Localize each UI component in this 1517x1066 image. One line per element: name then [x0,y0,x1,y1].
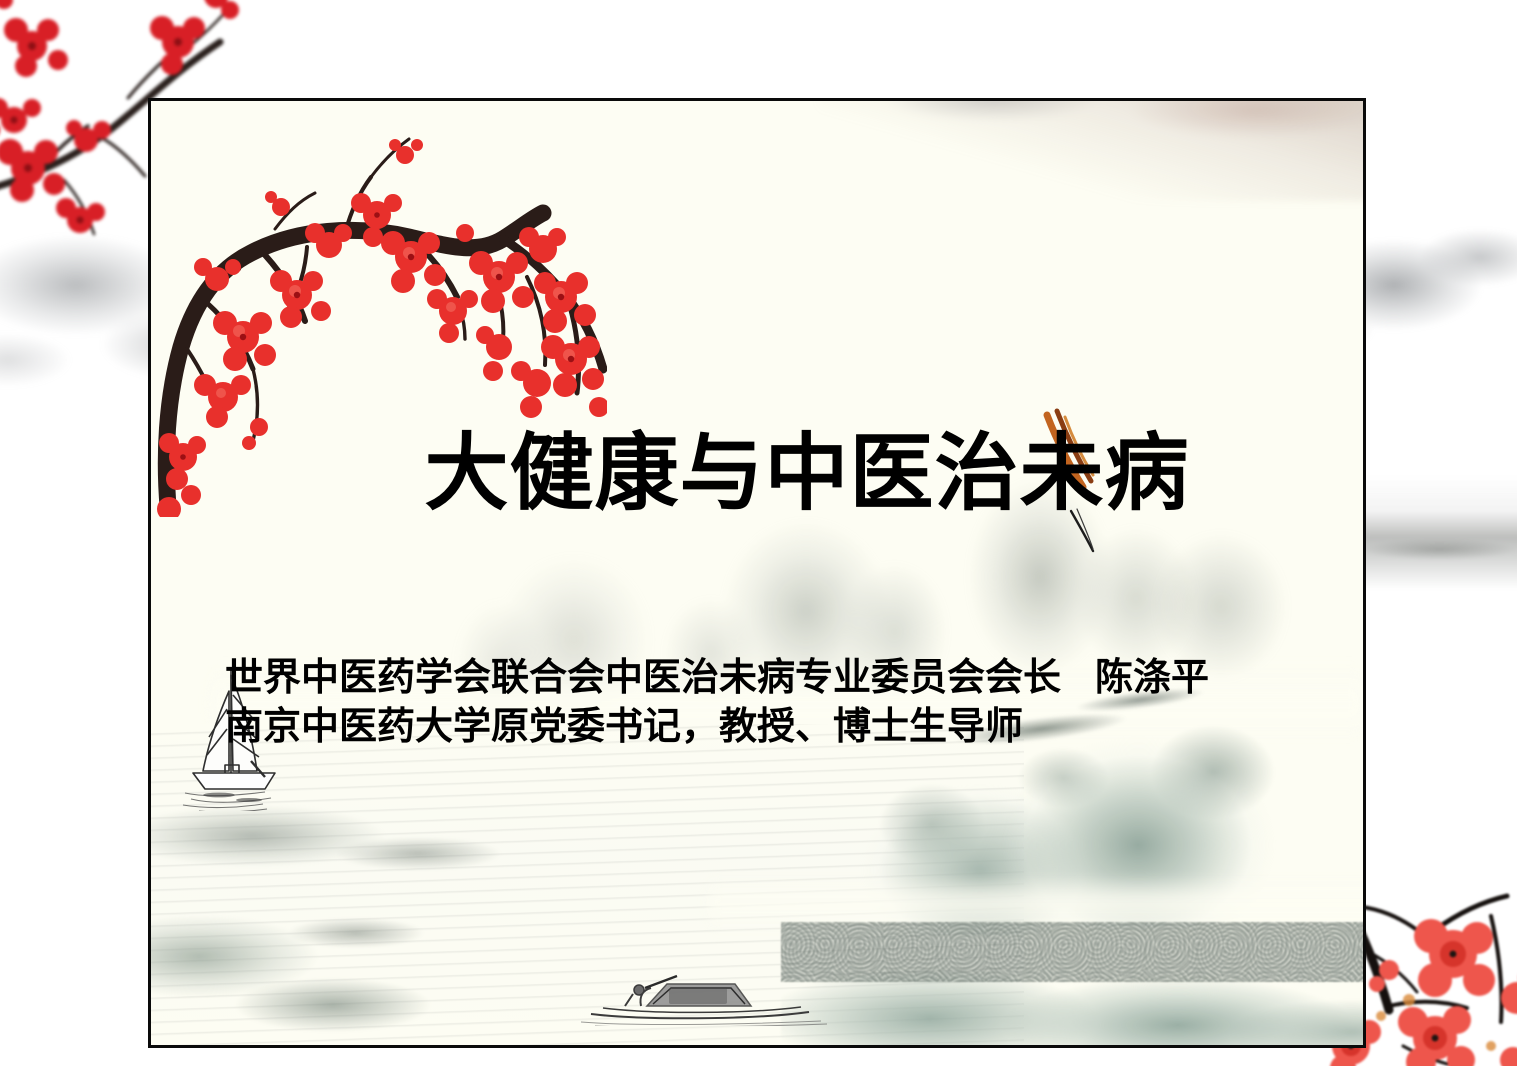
subtitle-line-1-text: 世界中医药学会联合会中医治未病专业委员会会长 [225,655,1061,699]
subtitle-line-2: 南京中医药大学原党委书记，教授、博士生导师 [225,702,1345,751]
ink-shoreline-icon-2 [151,894,539,1024]
presentation-page: 大健康与中医治未病 世界中医药学会联合会中医治未病专业委员会会长陈涤平 南京中医… [0,0,1517,1066]
subtitle-line-1: 世界中医药学会联合会中医治未病专业委员会会长陈涤平 [225,653,1345,702]
ink-shoreline-icon-1 [151,781,612,891]
slide-title: 大健康与中医治未病 [387,431,1227,515]
slide-subtitle: 世界中医药学会联合会中医治未病专业委员会会长陈涤平 南京中医药大学原党委书记，教… [225,653,1345,752]
ink-wash-top-icon [818,101,1363,201]
tree-line-icon [781,922,1363,982]
slide-frame: 大健康与中医治未病 世界中医药学会联合会中医治未病专业委员会会长陈涤平 南京中医… [148,98,1366,1048]
subtitle-line-2-text: 南京中医药大学原党委书记，教授、博士生导师 [225,704,1023,748]
slide-canvas: 大健康与中医治未病 世界中医药学会联合会中医治未病专业委员会会长陈涤平 南京中医… [151,101,1363,1045]
water-surface-icon [151,724,1024,1045]
green-mountain-icon-front [781,913,1363,1045]
mist-band-icon-lower [709,875,1363,935]
speaker-name: 陈涤平 [1095,655,1209,699]
ink-shoreline-icon-3 [224,969,588,1045]
fishing-boat-icon [581,966,831,1026]
